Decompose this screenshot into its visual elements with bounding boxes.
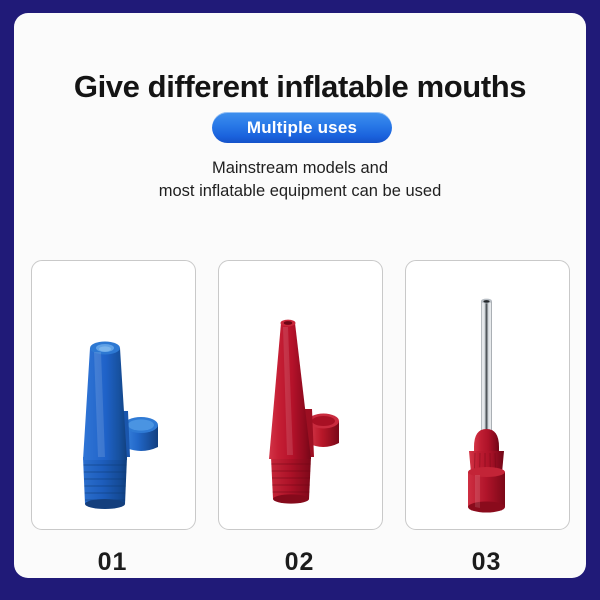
product-card-03[interactable] [405,260,570,530]
subtitle-line-1: Mainstream models and [14,157,586,180]
blue-nozzle-illustration [32,261,195,529]
status-badge: Multiple uses [212,112,392,143]
content-panel: Give different inflatable mouths Multipl… [14,13,586,578]
card-number-01: 01 [31,548,194,577]
red-cone-nozzle-illustration [219,261,382,529]
badge-label: Multiple uses [212,112,392,143]
card-number-02: 02 [218,548,381,577]
outer-frame: Give different inflatable mouths Multipl… [0,0,600,600]
product-card-01[interactable] [31,260,196,530]
subtitle: Mainstream models and most inflatable eq… [14,157,586,203]
card-number-03: 03 [405,548,568,577]
product-card-02[interactable] [218,260,383,530]
page-title: Give different inflatable mouths [14,69,586,105]
subtitle-line-2: most inflatable equipment can be used [14,180,586,203]
inflation-needle-illustration [406,261,569,529]
